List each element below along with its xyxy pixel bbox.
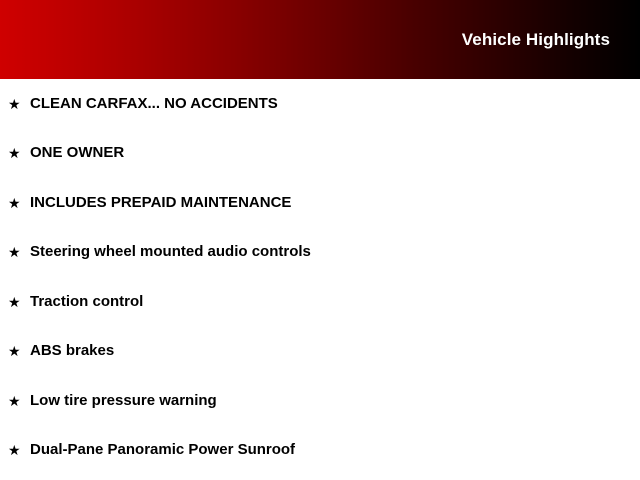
header-banner: Vehicle Highlights [0, 0, 640, 79]
highlight-label: Low tire pressure warning [30, 392, 217, 410]
list-item: ★ Dual-Pane Panoramic Power Sunroof [0, 426, 640, 476]
highlight-label: INCLUDES PREPAID MAINTENANCE [30, 194, 291, 212]
list-item: ★ INCLUDES PREPAID MAINTENANCE [0, 178, 640, 228]
star-bullet-icon: ★ [8, 245, 30, 259]
star-bullet-icon: ★ [8, 394, 30, 408]
star-bullet-icon: ★ [8, 344, 30, 358]
vehicle-highlights-page: Vehicle Highlights ★ CLEAN CARFAX... NO … [0, 0, 640, 480]
highlight-label: Steering wheel mounted audio controls [30, 243, 311, 261]
list-item: ★ ONE OWNER [0, 129, 640, 179]
star-bullet-icon: ★ [8, 97, 30, 111]
list-item: ★ ABS brakes [0, 327, 640, 377]
star-bullet-icon: ★ [8, 295, 30, 309]
star-bullet-icon: ★ [8, 196, 30, 210]
list-item: ★ Low tire pressure warning [0, 376, 640, 426]
star-bullet-icon: ★ [8, 146, 30, 160]
vehicle-highlights-list: ★ CLEAN CARFAX... NO ACCIDENTS ★ ONE OWN… [0, 79, 640, 475]
list-item: ★ CLEAN CARFAX... NO ACCIDENTS [0, 79, 640, 129]
star-bullet-icon: ★ [8, 443, 30, 457]
highlight-label: CLEAN CARFAX... NO ACCIDENTS [30, 95, 278, 113]
highlight-label: Dual-Pane Panoramic Power Sunroof [30, 441, 295, 459]
highlight-label: ABS brakes [30, 342, 114, 360]
highlight-label: Traction control [30, 293, 143, 311]
page-title: Vehicle Highlights [462, 30, 610, 50]
list-item: ★ Steering wheel mounted audio controls [0, 228, 640, 278]
list-item: ★ Traction control [0, 277, 640, 327]
highlight-label: ONE OWNER [30, 144, 124, 162]
